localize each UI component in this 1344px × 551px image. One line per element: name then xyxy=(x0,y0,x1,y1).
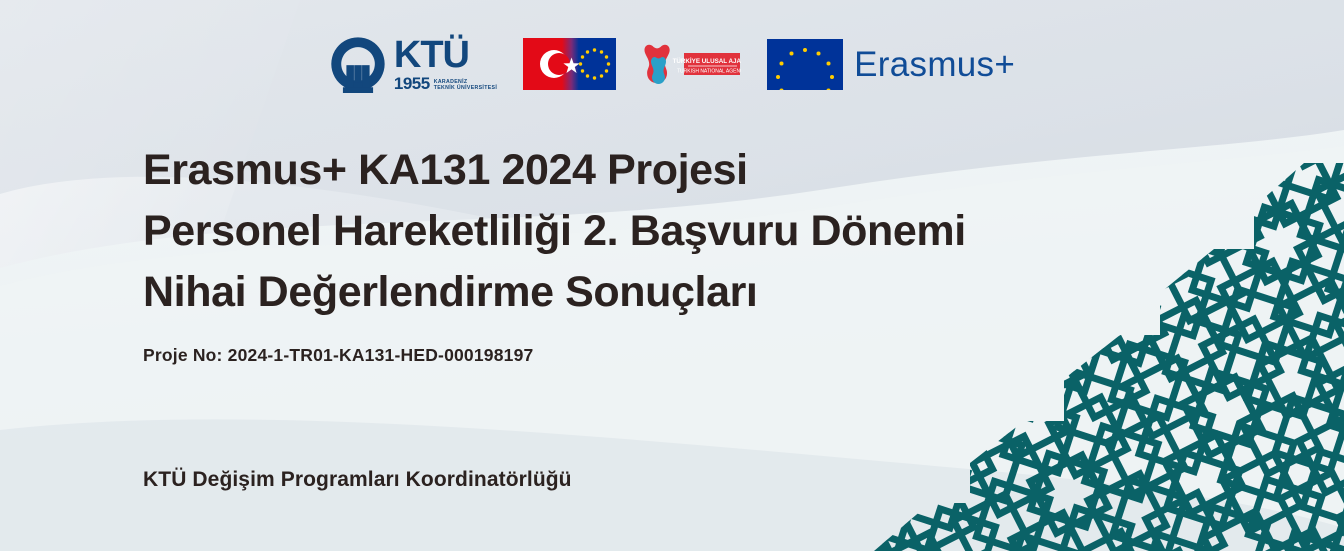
eu-flag-icon xyxy=(767,39,843,90)
ktu-logo: KTÜ 1955 KARADENİZ TEKNİK ÜNİVERSİTESİ xyxy=(329,33,497,95)
title-line-3: Nihai Değerlendirme Sonuçları xyxy=(143,262,1103,323)
title-line-1: Erasmus+ KA131 2024 Projesi xyxy=(143,140,1103,201)
agency-name-turkish: TÜRKİYE ULUSAL AJANSI xyxy=(673,58,741,65)
ktu-university-name-line2: TEKNİK ÜNİVERSİTESİ xyxy=(434,86,497,92)
turkish-national-agency-logo: TÜRKİYE ULUSAL AJANSI TURKISH NATIONAL A… xyxy=(642,38,741,90)
coordinator-office-name: KTÜ Değişim Programları Koordinatörlüğü xyxy=(143,468,572,492)
erasmus-plus-wordmark: Erasmus+ xyxy=(854,47,1015,82)
project-number: Proje No: 2024-1-TR01-KA131-HED-00019819… xyxy=(143,345,1103,366)
presentation-slide: KTÜ 1955 KARADENİZ TEKNİK ÜNİVERSİTESİ xyxy=(0,0,1344,551)
page-title: Erasmus+ KA131 2024 Projesi Personel Har… xyxy=(143,140,1103,323)
ktu-wordmark: KTÜ 1955 KARADENİZ TEKNİK ÜNİVERSİTESİ xyxy=(394,36,497,92)
slide-content: Erasmus+ KA131 2024 Projesi Personel Har… xyxy=(143,140,1103,366)
erasmus-plus-logo: Erasmus+ xyxy=(767,38,1015,90)
ktu-emblem-icon xyxy=(329,35,387,93)
agency-name-english: TURKISH NATIONAL AGENCY xyxy=(677,69,741,75)
ktu-wordmark-text: KTÜ xyxy=(394,36,497,74)
title-line-2: Personel Hareketliliği 2. Başvuru Dönemi xyxy=(143,201,1103,262)
turkey-eu-flag-logo xyxy=(523,38,616,90)
logo-strip: KTÜ 1955 KARADENİZ TEKNİK ÜNİVERSİTESİ xyxy=(0,28,1344,100)
ktu-founding-year: 1955 xyxy=(394,75,430,92)
